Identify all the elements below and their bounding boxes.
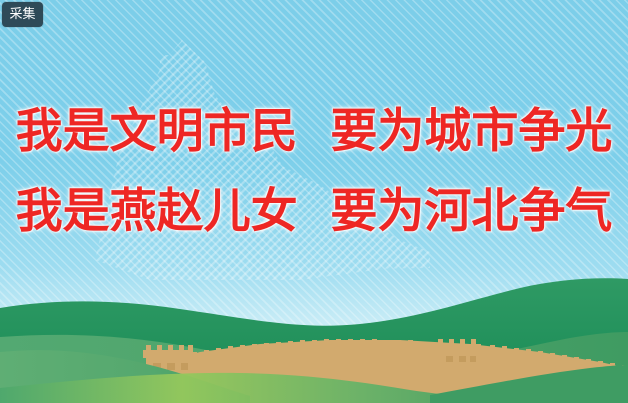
slogan-line-1: 我是文明市民 要为城市争光	[0, 108, 628, 155]
capture-button[interactable]: 采集	[2, 2, 43, 27]
banner-screenshot: 我是文明市民 要为城市争光 我是燕赵儿女 要为河北争气 采集	[0, 0, 628, 403]
slogan-line-2: 我是燕赵儿女 要为河北争气	[0, 188, 628, 235]
